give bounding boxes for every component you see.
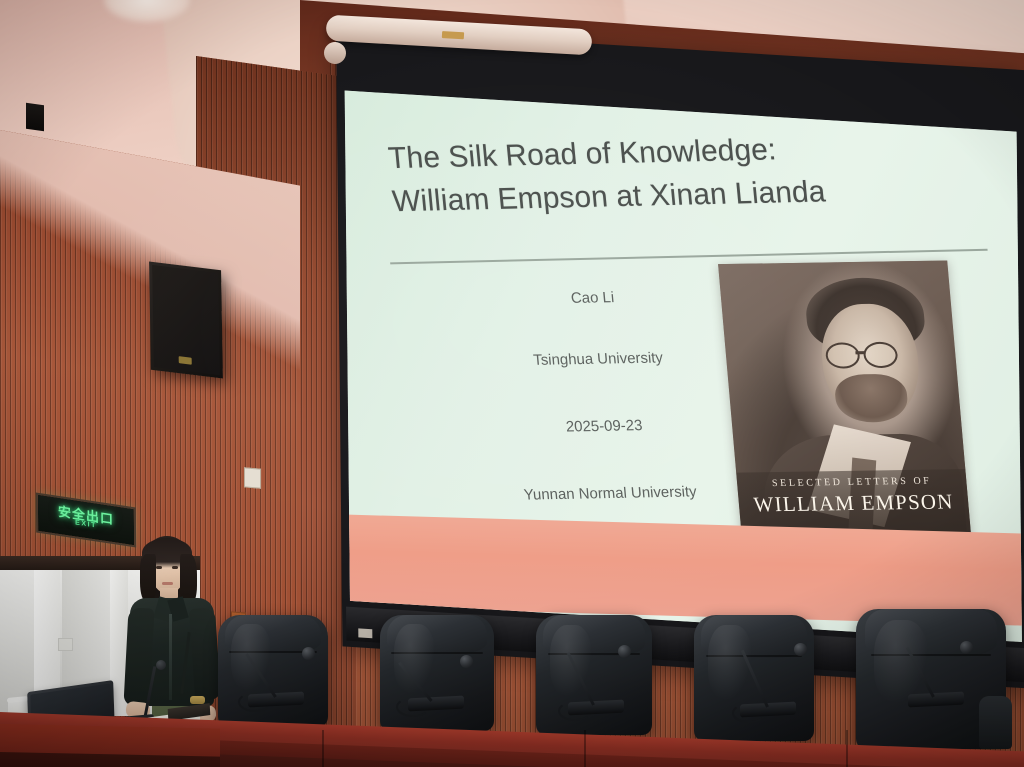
projection-screen-frame: The Silk Road of Knowledge: William Emps… — [336, 28, 1024, 689]
portrait-glasses-bridge — [855, 351, 865, 354]
portrait-beard — [833, 374, 909, 423]
presenter-mouth — [162, 582, 173, 585]
microphone-head — [960, 641, 973, 654]
presenter-button-placket — [169, 614, 172, 700]
lecture-hall-scene: 安全出口 EXIT The Silk Road of Knowledge: Wi… — [0, 0, 1024, 767]
chair-highlight — [874, 620, 928, 704]
wall-light-switch[interactable] — [58, 638, 73, 651]
microphone-cable — [238, 692, 272, 712]
chair-backrest — [380, 615, 494, 731]
podium-microphone-head[interactable] — [156, 660, 166, 670]
conference-chair-5[interactable] — [856, 609, 1006, 749]
slide-metadata-block: Cao Li Tsinghua University 2025-09-23 Yu… — [443, 288, 764, 534]
slide-date: 2025-09-23 — [454, 416, 754, 437]
microphone-cable — [396, 697, 430, 717]
speaker-brand-badge — [179, 356, 192, 365]
chair-backrest — [218, 615, 328, 727]
slide-affiliation: Tsinghua University — [448, 349, 748, 370]
presentation-slide: The Silk Road of Knowledge: William Emps… — [345, 91, 1022, 642]
speaker-mount-bracket — [26, 103, 44, 132]
table-panel-seam-3 — [846, 730, 848, 767]
microphone-head — [618, 645, 631, 658]
conference-chair-2[interactable] — [380, 615, 494, 731]
table-panel-seam-1 — [322, 730, 324, 767]
chair-armrest — [979, 696, 1012, 749]
chair-backrest — [856, 609, 1006, 749]
microphone-cable — [558, 701, 592, 721]
slide-title: The Silk Road of Knowledge: William Emps… — [386, 124, 1021, 224]
microphone-cable — [732, 703, 766, 723]
conference-chair-3[interactable] — [536, 615, 652, 735]
projection-screen-surface: The Silk Road of Knowledge: William Emps… — [345, 91, 1022, 642]
projection-screen-assembly: The Silk Road of Knowledge: William Emps… — [336, 28, 1024, 658]
presenter-eye-left — [156, 566, 162, 569]
book-cover-series-line: SELECTED LETTERS OF — [737, 475, 967, 490]
microphone-head — [460, 655, 473, 668]
presenter-arm-right — [189, 607, 221, 701]
slide-venue: Yunnan Normal University — [460, 483, 760, 504]
cup-rim — [7, 696, 28, 703]
chair-highlight — [708, 625, 751, 701]
slide-presenter-name: Cao Li — [443, 288, 743, 309]
chair-backrest — [536, 615, 652, 735]
book-cover-title: WILLIAM EMPSON — [738, 489, 969, 518]
presenter-hair-left — [140, 554, 156, 602]
screen-bottom-tag — [358, 628, 372, 638]
presenter-wristwatch — [190, 696, 205, 704]
wall-speaker — [149, 261, 223, 378]
table-panel-seam-2 — [584, 730, 586, 767]
microphone-head — [794, 643, 807, 656]
microphone-head — [302, 647, 315, 660]
roller-brand-label — [442, 31, 464, 39]
wall-outlet-upper — [244, 467, 261, 488]
presenter-eye-right — [172, 566, 178, 569]
conference-chair-1[interactable] — [218, 615, 328, 727]
